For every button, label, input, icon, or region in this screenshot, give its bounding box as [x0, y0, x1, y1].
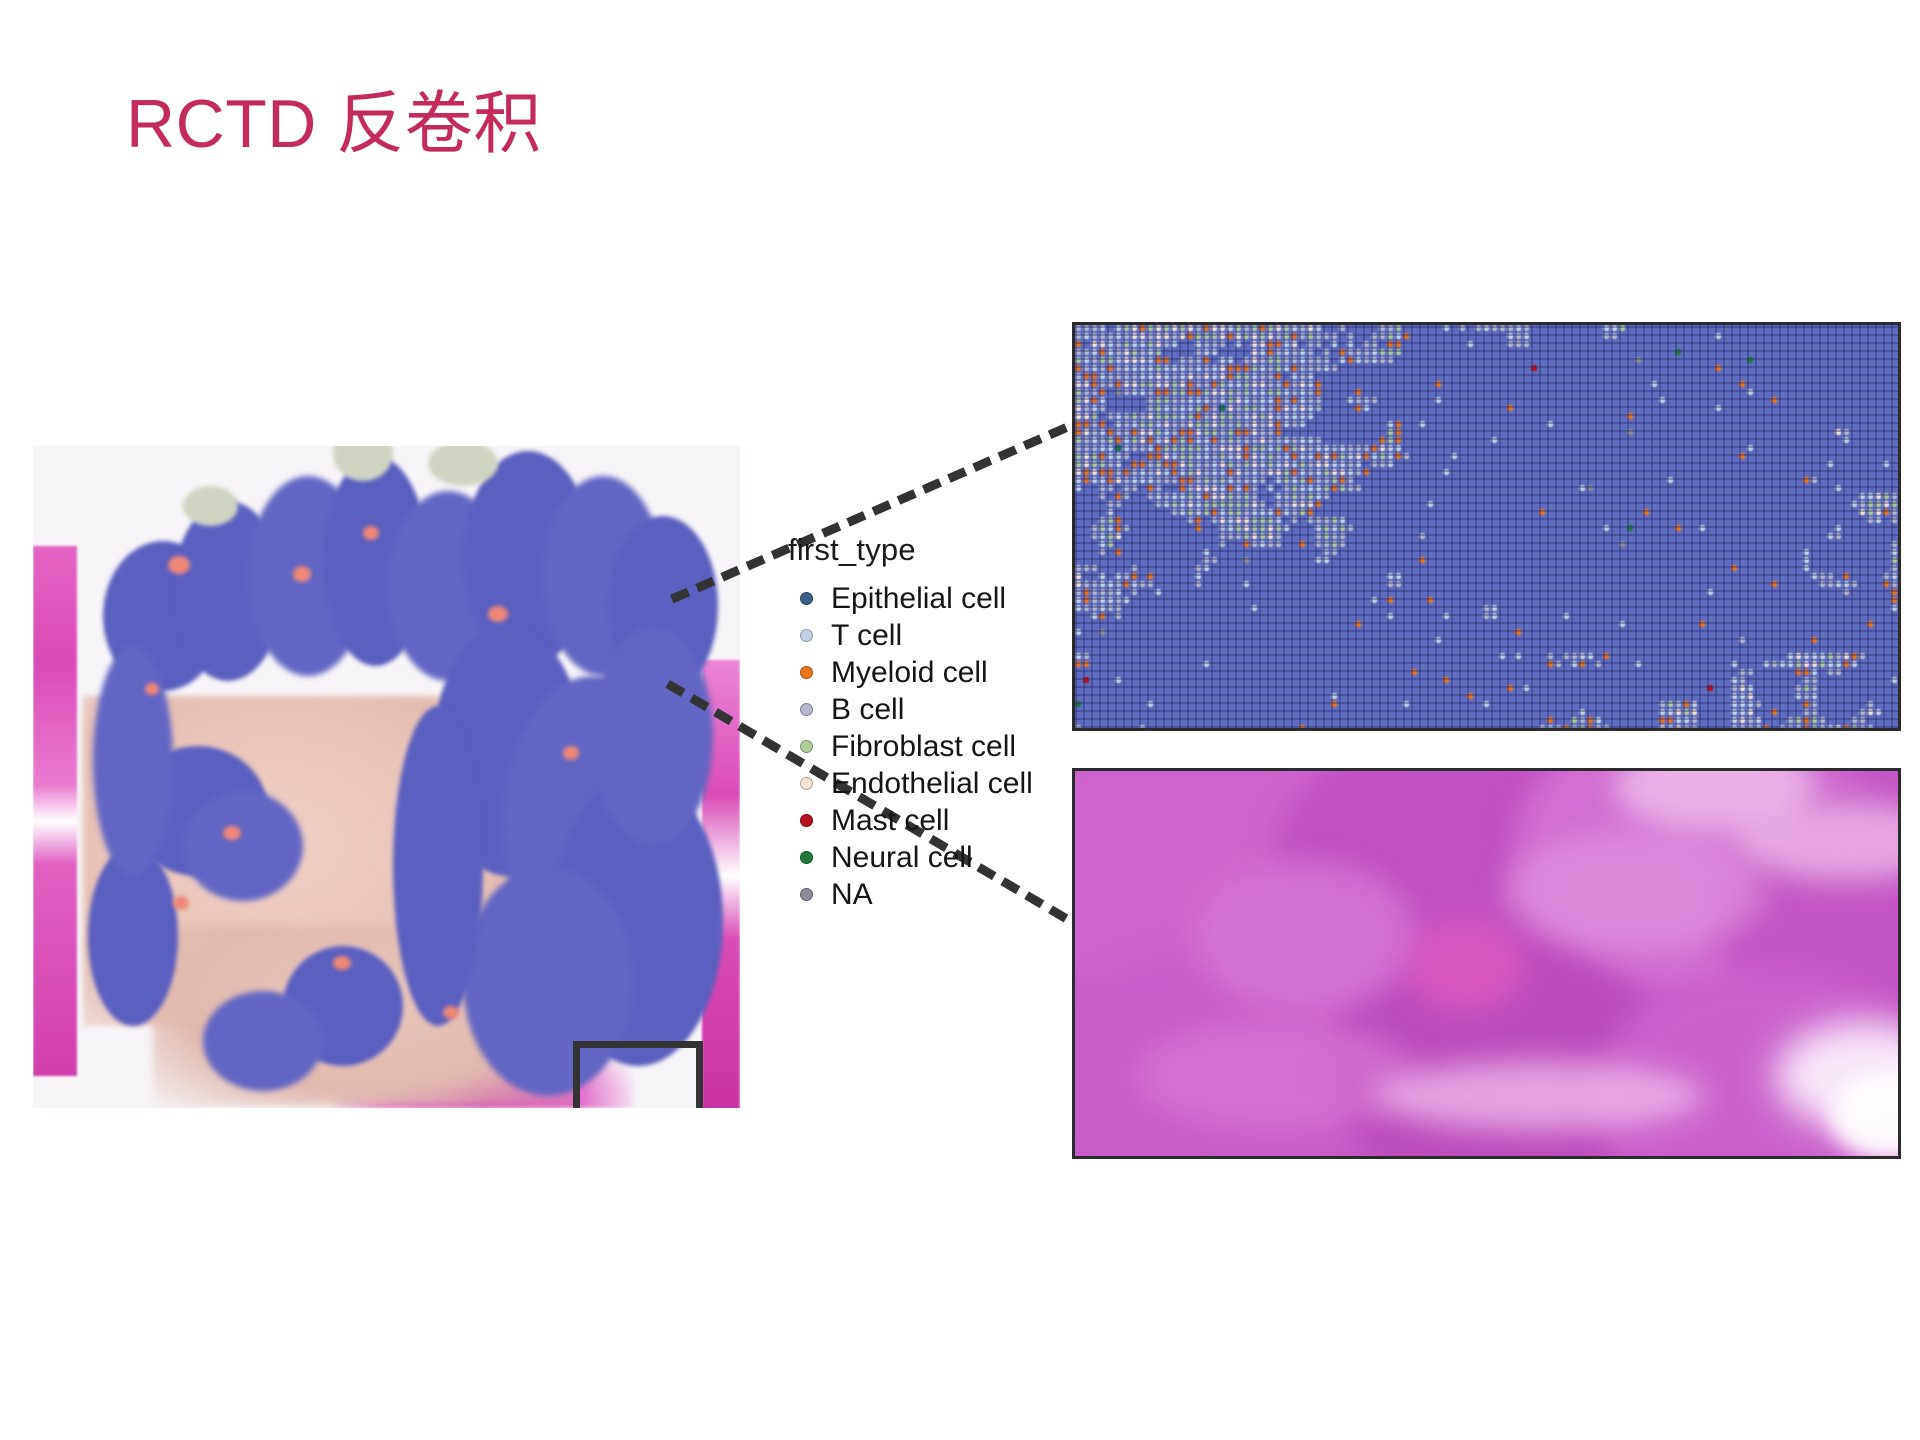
legend-item-mast-cell[interactable]: Mast cell [800, 802, 1078, 839]
legend-item-label: B cell [831, 693, 904, 727]
slide-canvas: RCTD 反卷积 [0, 0, 1920, 1440]
legend-swatch-icon [800, 703, 813, 716]
legend-swatch-icon [800, 851, 813, 864]
legend-item-myeloid-cell[interactable]: Myeloid cell [800, 654, 1078, 691]
legend-item-label: Fibroblast cell [831, 730, 1016, 764]
region-of-interest-rectangle[interactable] [573, 1041, 703, 1108]
legend-item-endothelial-cell[interactable]: Endothelial cell [800, 765, 1078, 802]
legend-item-label: Endothelial cell [831, 767, 1033, 801]
legend-item-epithelial-cell[interactable]: Epithelial cell [800, 580, 1078, 617]
overview-tissue-structures [33, 446, 740, 1108]
spot-grid-canvas [1075, 325, 1898, 728]
page-title: RCTD 反卷积 [126, 88, 542, 161]
legend: first_type Epithelial cell T cell Myeloi… [788, 532, 1078, 913]
legend-item-neural-cell[interactable]: Neural cell [800, 839, 1078, 876]
legend-item-label: Mast cell [831, 804, 949, 838]
legend-swatch-icon [800, 888, 813, 901]
legend-swatch-icon [800, 629, 813, 642]
rctd-spot-plot-panel[interactable] [1072, 322, 1901, 731]
legend-item-label: Epithelial cell [831, 582, 1006, 616]
legend-item-fibroblast-cell[interactable]: Fibroblast cell [800, 728, 1078, 765]
legend-swatch-icon [800, 740, 813, 753]
legend-swatch-icon [800, 592, 813, 605]
legend-swatch-icon [800, 777, 813, 790]
legend-item-label: Myeloid cell [831, 656, 988, 690]
legend-item-t-cell[interactable]: T cell [800, 617, 1078, 654]
legend-item-label: NA [831, 878, 873, 912]
legend-title: first_type [788, 532, 1078, 568]
he-histology-panel[interactable] [1072, 768, 1901, 1159]
legend-item-b-cell[interactable]: B cell [800, 691, 1078, 728]
legend-swatch-icon [800, 814, 813, 827]
legend-item-label: Neural cell [831, 841, 973, 875]
legend-item-label: T cell [831, 619, 902, 653]
legend-swatch-icon [800, 666, 813, 679]
legend-item-na[interactable]: NA [800, 876, 1078, 913]
tissue-overview-panel[interactable] [33, 446, 740, 1108]
